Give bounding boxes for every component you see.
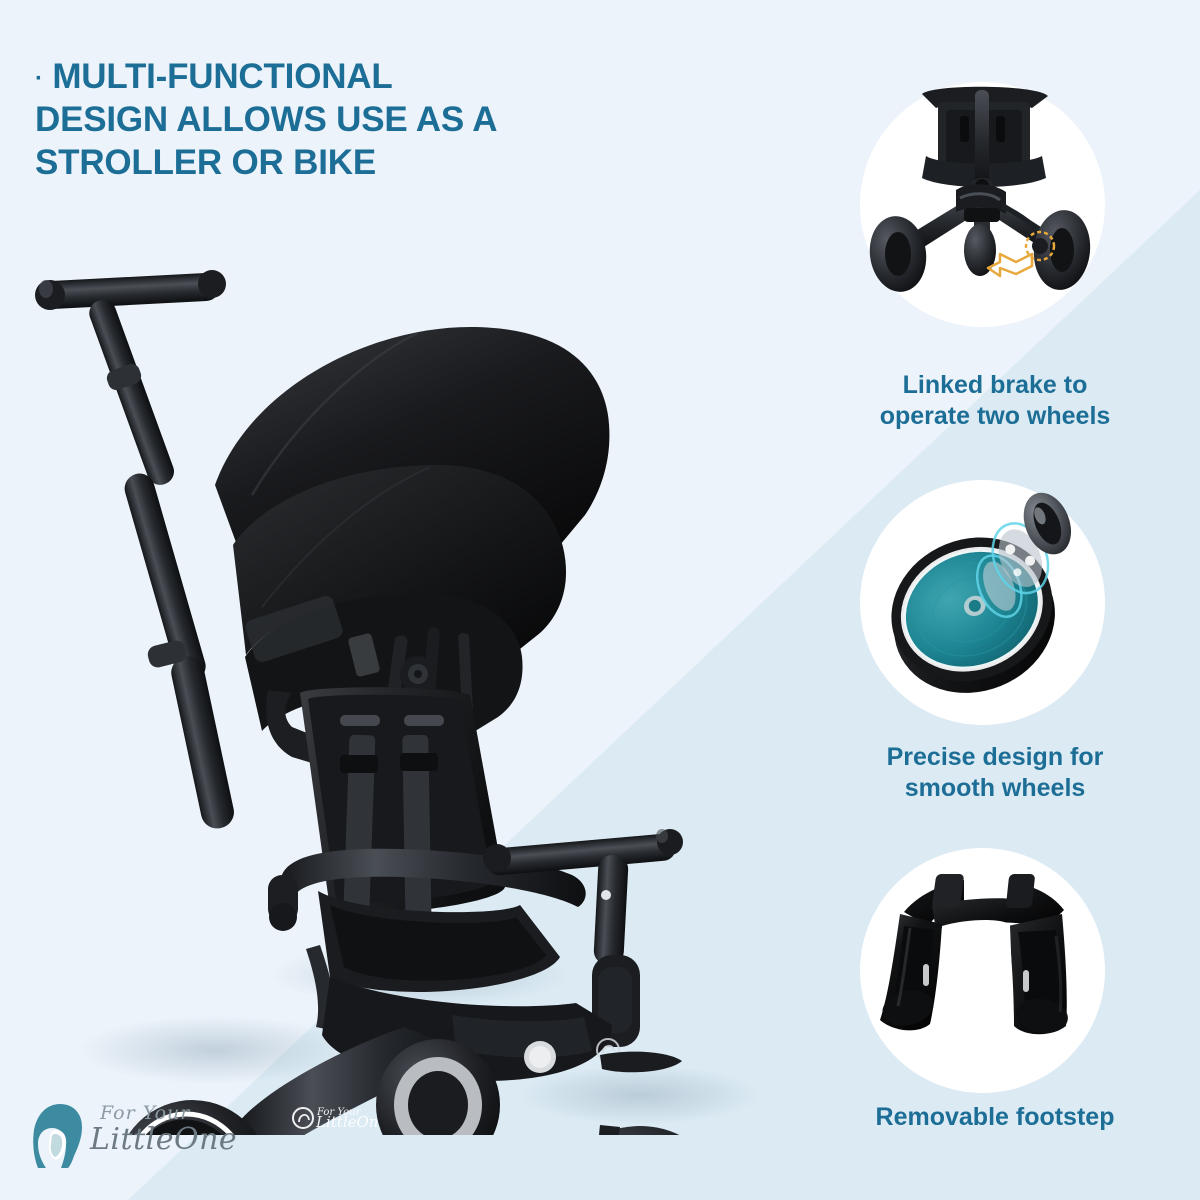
- infographic-canvas: · MULTI-FUNCTIONAL DESIGN ALLOWS USE AS …: [0, 0, 1200, 1200]
- brand-logo: For Your LittleOne: [30, 1100, 240, 1172]
- feature-caption-line-1: Precise design for: [887, 743, 1104, 771]
- feature-caption-line-2: smooth wheels: [905, 774, 1086, 802]
- wheel-bearing-icon: [860, 480, 1105, 725]
- logo-line-2: LittleOne: [90, 1122, 237, 1157]
- feature-caption: Removable footstep: [830, 1102, 1160, 1133]
- trike-underside-icon: [860, 82, 1105, 327]
- feature-caption-line-1: Removable footstep: [876, 1103, 1115, 1131]
- feature-removable-footstep: Removable footstep: [830, 840, 1160, 1160]
- feature-image-circle: [860, 82, 1105, 327]
- headline-bullet: ·: [35, 65, 43, 92]
- logo-line-1: For Your: [100, 1102, 190, 1124]
- feature-caption: Linked brake to operate two wheels: [830, 370, 1160, 431]
- mother-and-child-icon: [30, 1100, 92, 1170]
- feature-caption-line-1: Linked brake to: [903, 371, 1088, 399]
- headline-line-1: MULTI-FUNCTIONAL: [52, 57, 392, 96]
- product-hero-image: For Your LittleOne: [0, 215, 800, 1135]
- feature-linked-brake: Linked brake to operate two wheels: [830, 70, 1160, 450]
- feature-precise-wheels: Precise design for smooth wheels: [830, 470, 1160, 830]
- footstep-icon: [860, 848, 1105, 1093]
- parent-push-handle: [35, 270, 226, 310]
- svg-text:LittleOne: LittleOne: [315, 1113, 387, 1131]
- headline-line-2: DESIGN ALLOWS USE AS A: [35, 100, 497, 139]
- product-shadow: [520, 1065, 760, 1125]
- feature-image-circle: [860, 480, 1105, 725]
- telescoping-handle-pole: [86, 296, 237, 831]
- headline-line-3: STROLLER OR BIKE: [35, 143, 376, 182]
- front-wheel: [548, 1125, 732, 1135]
- feature-caption-line-2: operate two wheels: [880, 402, 1111, 430]
- feature-image-circle: [860, 848, 1105, 1093]
- feature-caption: Precise design for smooth wheels: [830, 742, 1160, 803]
- page-title: · MULTI-FUNCTIONAL DESIGN ALLOWS USE AS …: [35, 55, 655, 184]
